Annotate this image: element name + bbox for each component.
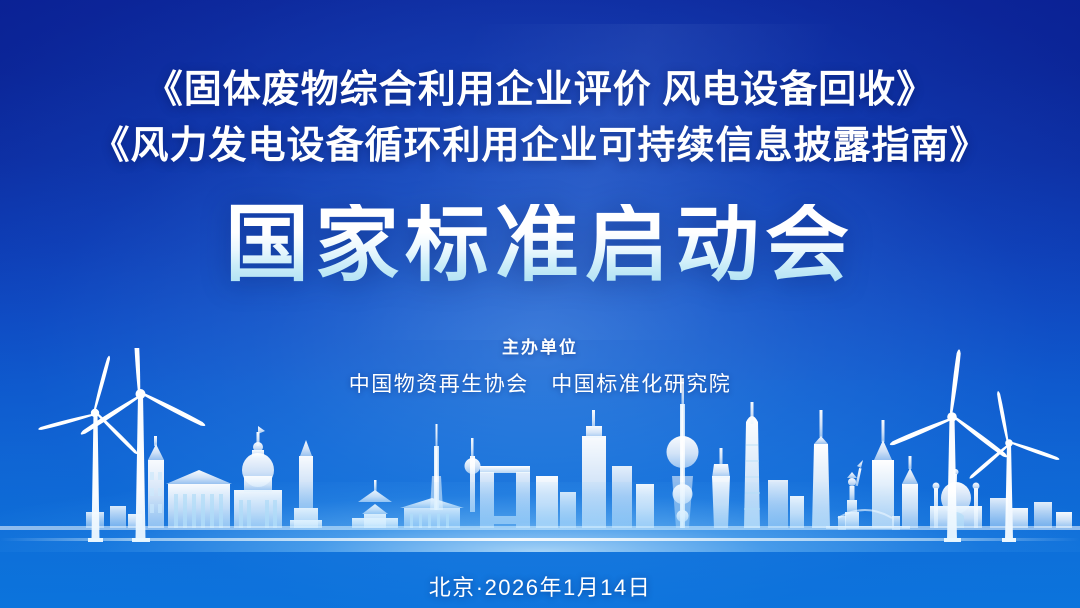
organizer-names: 中国物资再生协会 中国标准化研究院 (0, 368, 1080, 398)
event-location-date: 北京·2026年1月14日 (0, 570, 1080, 602)
event-headline: 国家标准启动会 (0, 204, 1080, 288)
poster-canvas: 《固体废物综合利用企业评价 风电设备回收》 《风力发电设备循环利用企业可持续信息… (0, 0, 1080, 608)
standard-title-line-2: 《风力发电设备循环利用企业可持续信息披露指南》 (0, 127, 1080, 165)
organizer-label: 主办单位 (0, 333, 1080, 358)
standard-title-line-1: 《固体废物综合利用企业评价 风电设备回收》 (0, 71, 1080, 109)
